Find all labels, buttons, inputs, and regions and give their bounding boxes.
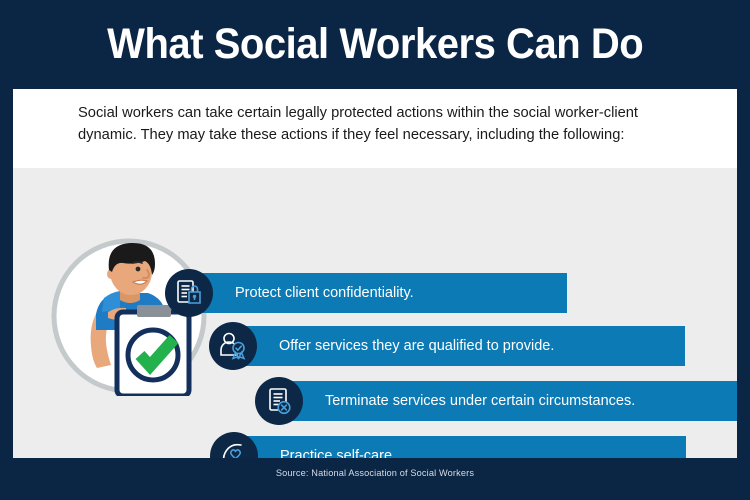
list-item[interactable]: Offer services they are qualified to pro… — [209, 322, 685, 370]
action-bar[interactable]: Terminate services under certain circums… — [291, 381, 737, 421]
list-item[interactable]: Practice self-care. — [210, 432, 686, 458]
action-bar[interactable]: Protect client confidentiality. — [201, 273, 567, 313]
list-item[interactable]: Terminate services under certain circums… — [255, 377, 737, 425]
list-item-label: Terminate services under certain circums… — [325, 394, 635, 409]
title-bar: What Social Workers Can Do — [0, 0, 750, 89]
person-award-icon — [209, 322, 257, 370]
source-attribution: Source: National Association of Social W… — [0, 468, 750, 478]
list-item-label: Practice self-care. — [280, 449, 396, 458]
infographic-root: What Social Workers Can Do Social worker… — [0, 0, 750, 500]
list-item-label: Offer services they are qualified to pro… — [279, 339, 554, 354]
content-card: Social workers can take certain legally … — [13, 89, 737, 458]
page-title: What Social Workers Can Do — [107, 23, 643, 66]
document-x-icon — [255, 377, 303, 425]
action-bar[interactable]: Offer services they are qualified to pro… — [245, 326, 685, 366]
action-bar[interactable]: Practice self-care. — [246, 436, 686, 458]
list-item[interactable]: Protect client confidentiality. — [165, 269, 567, 317]
list-item-label: Protect client confidentiality. — [235, 286, 414, 301]
action-list: Protect client confidentiality. — [13, 89, 737, 458]
document-lock-icon — [165, 269, 213, 317]
